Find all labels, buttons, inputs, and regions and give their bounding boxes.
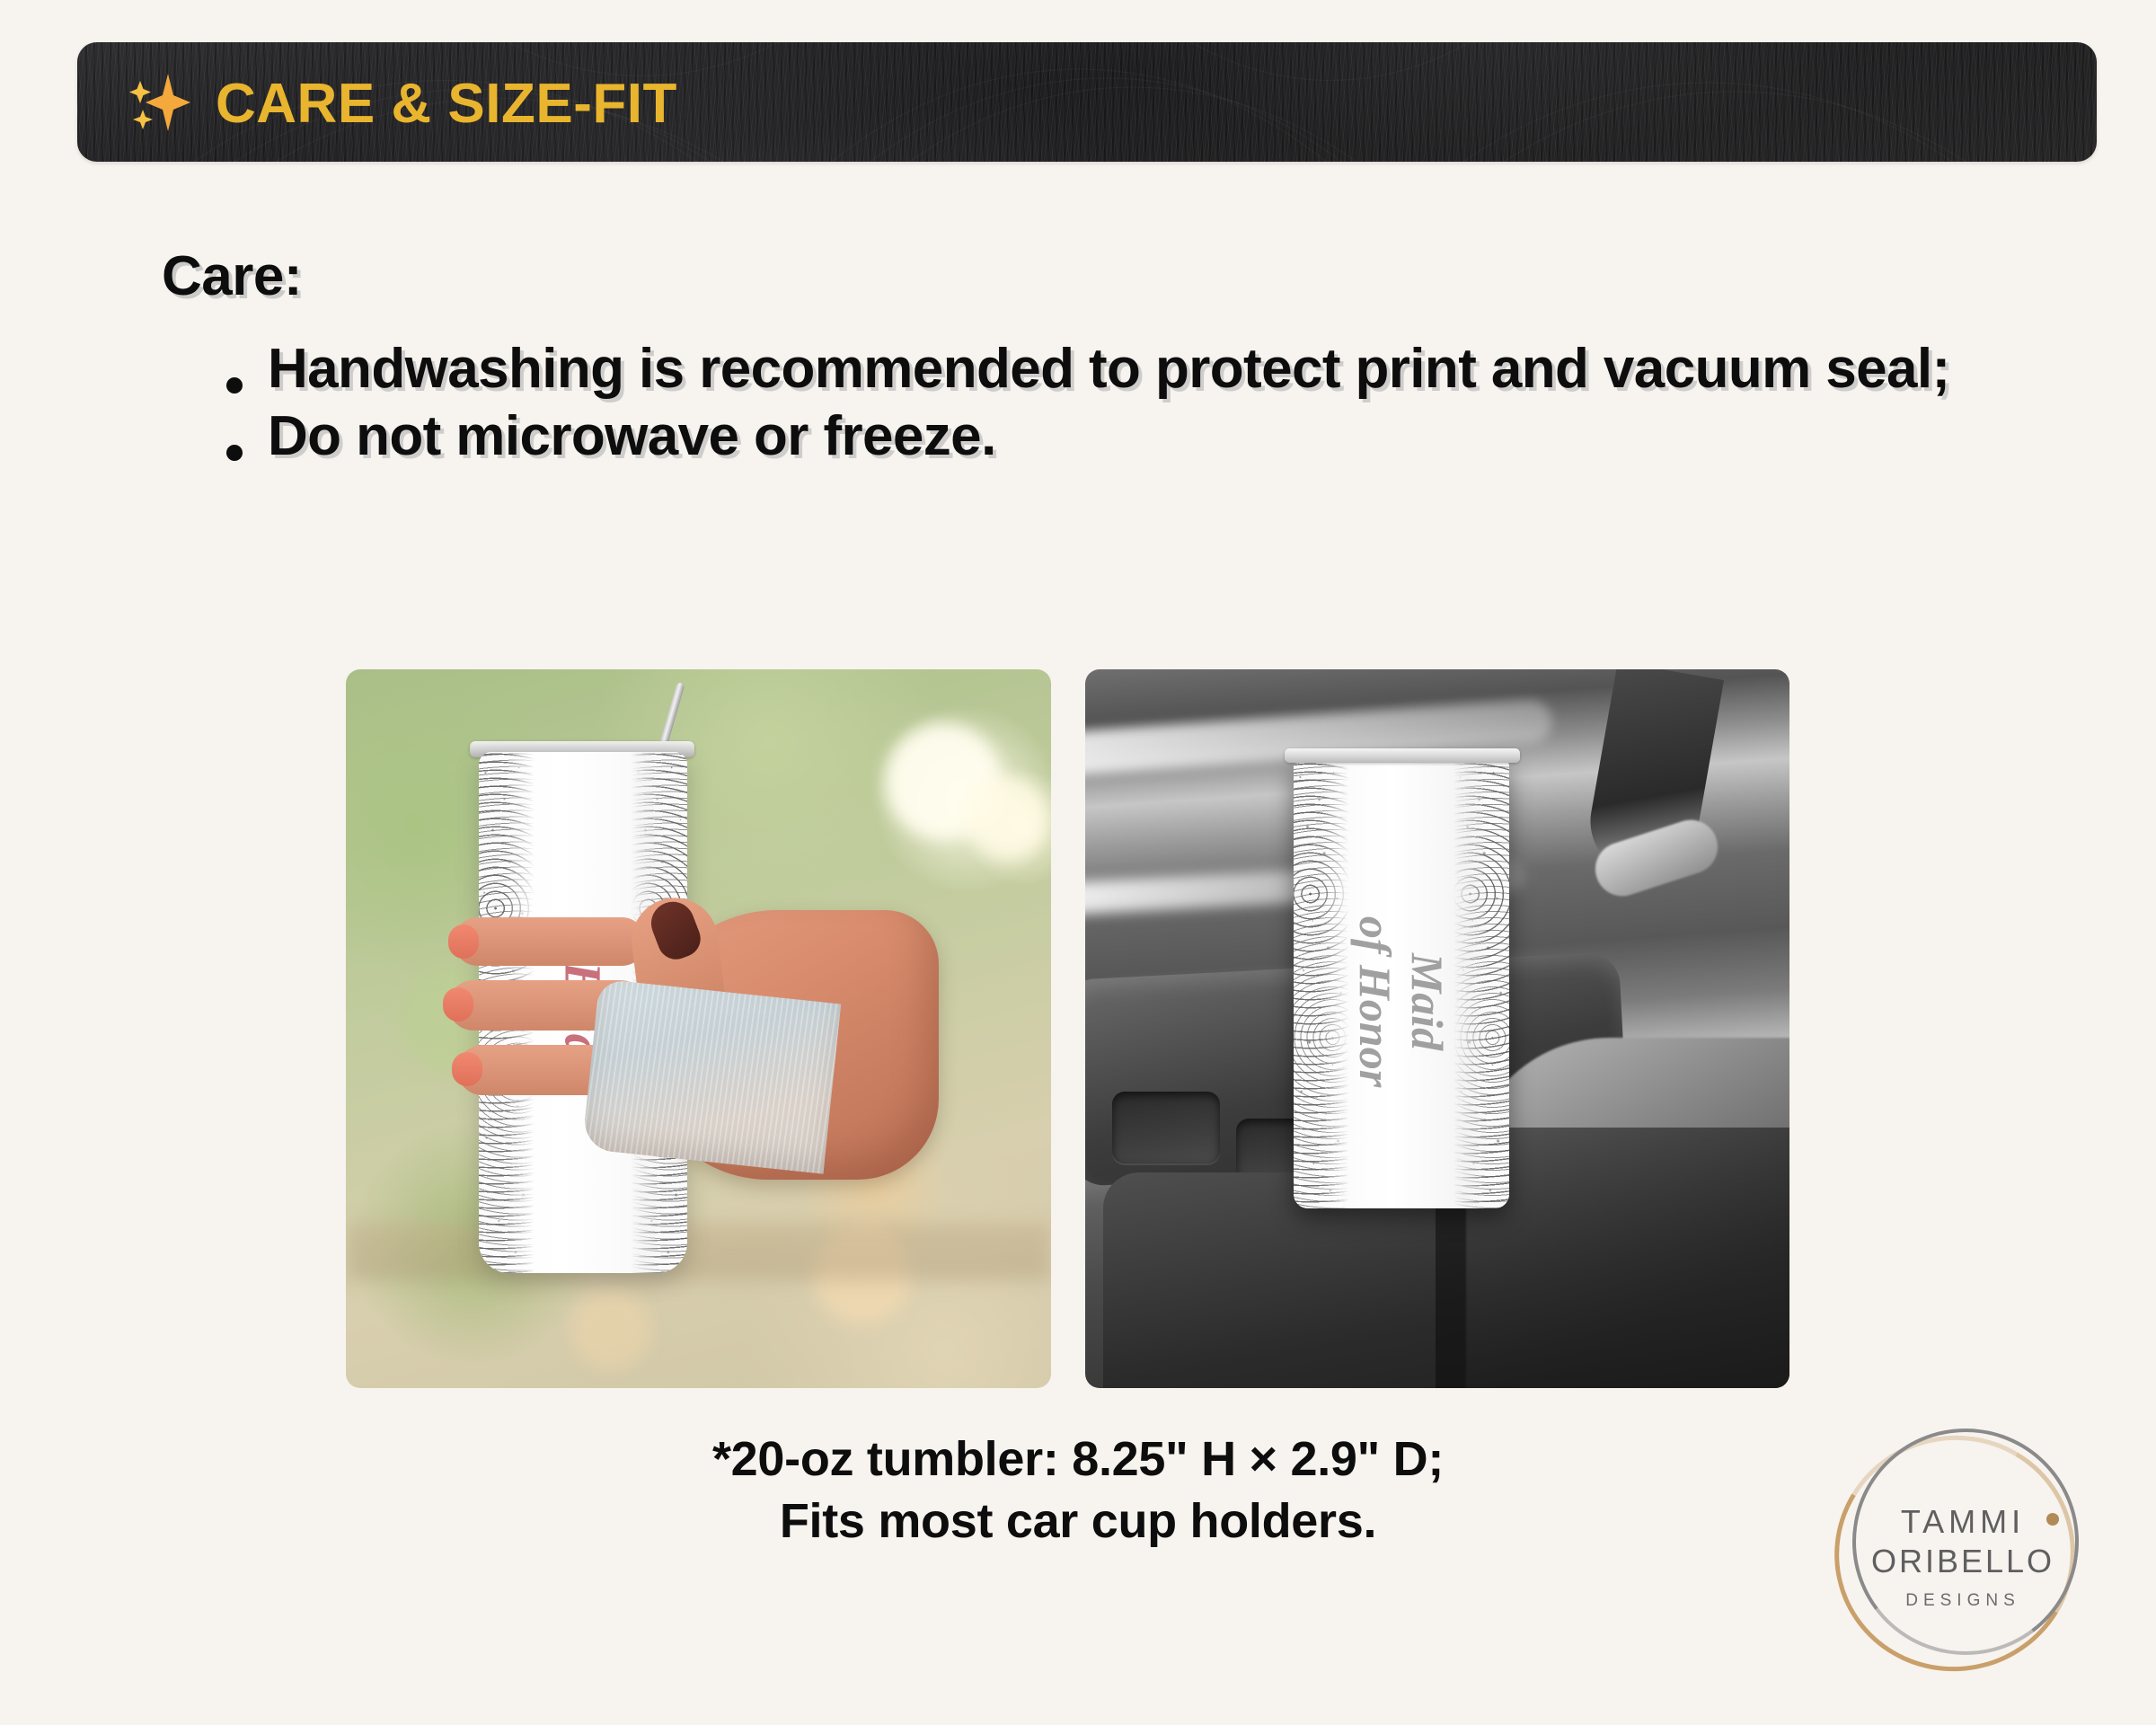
logo-wordmark: TAMMI ORIBELLO DESIGNS bbox=[1833, 1427, 2093, 1687]
glitter-edge-left bbox=[1294, 759, 1349, 1208]
glitter-edge-right bbox=[1454, 759, 1509, 1208]
tumbler-label-maid-of-honor: Maid of Honor bbox=[1349, 916, 1454, 1087]
tumbler-body-maid-of-honor: Maid of Honor bbox=[1294, 759, 1509, 1208]
thumbnail-polish bbox=[645, 896, 706, 965]
fingernail bbox=[452, 1052, 482, 1086]
care-bullet-list: Handwashing is recommended to protect pr… bbox=[226, 340, 2068, 474]
product-photo-bride[interactable]: Bride bbox=[346, 669, 1051, 1388]
banner-content: CARE & SIZE-FIT bbox=[128, 42, 677, 162]
list-item: Do not microwave or freeze. bbox=[226, 407, 2068, 467]
sweater-sleeve bbox=[582, 978, 841, 1173]
banner-title: CARE & SIZE-FIT bbox=[216, 76, 677, 132]
slide-canvas: CARE & SIZE-FIT Care: Handwashing is rec… bbox=[0, 0, 2156, 1725]
care-heading: Care: bbox=[162, 244, 302, 308]
bullet-text: Handwashing is recommended to protect pr… bbox=[268, 340, 1950, 400]
brand-logo: TAMMI ORIBELLO DESIGNS bbox=[1833, 1427, 2093, 1687]
bokeh-light bbox=[966, 777, 1047, 858]
product-photo-maid-of-honor[interactable]: Maid of Honor bbox=[1085, 669, 1790, 1388]
sparkles-icon bbox=[128, 68, 192, 137]
cup-holder bbox=[1112, 1092, 1220, 1163]
product-photo-gallery: Bride bbox=[346, 669, 1789, 1388]
list-item: Handwashing is recommended to protect pr… bbox=[226, 340, 2068, 400]
finger bbox=[454, 917, 646, 966]
logo-line-tammi: TAMMI bbox=[1901, 1503, 2025, 1541]
bullet-dot-icon bbox=[226, 377, 243, 394]
tumbler-lid bbox=[1285, 748, 1520, 763]
bokeh-light bbox=[570, 1289, 651, 1370]
bullet-text: Do not microwave or freeze. bbox=[268, 407, 996, 467]
bullet-dot-icon bbox=[226, 445, 243, 461]
fingernail bbox=[448, 924, 479, 959]
sleeve-texture bbox=[582, 978, 841, 1173]
blurred-fence bbox=[346, 1223, 1051, 1280]
logo-line-designs: DESIGNS bbox=[1905, 1591, 2020, 1611]
section-header-banner: CARE & SIZE-FIT bbox=[77, 42, 2097, 162]
bokeh-light bbox=[885, 723, 1002, 840]
fingernail bbox=[443, 987, 473, 1022]
logo-line-oribello: ORIBELLO bbox=[1871, 1543, 2054, 1580]
